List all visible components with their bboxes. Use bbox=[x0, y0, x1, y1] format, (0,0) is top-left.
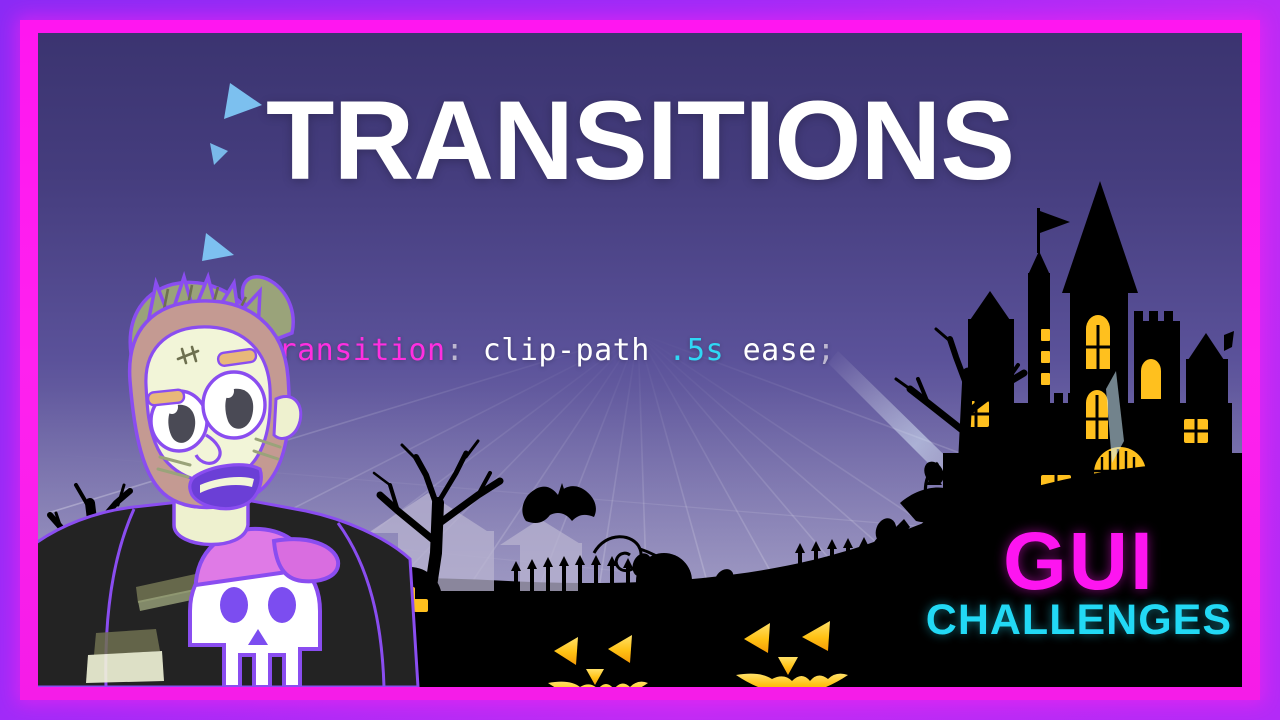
logo-line-gui: GUI bbox=[926, 524, 1232, 599]
logo-line-challenges: CHALLENGES bbox=[926, 601, 1232, 641]
gui-challenges-logo: GUI CHALLENGES bbox=[926, 524, 1232, 641]
bandage-patch bbox=[147, 389, 184, 406]
scene-stage: TRANSITIONS transition: clip-path .5s ea… bbox=[38, 33, 1242, 687]
youtube-thumbnail: TRANSITIONS transition: clip-path .5s ea… bbox=[0, 0, 1280, 720]
